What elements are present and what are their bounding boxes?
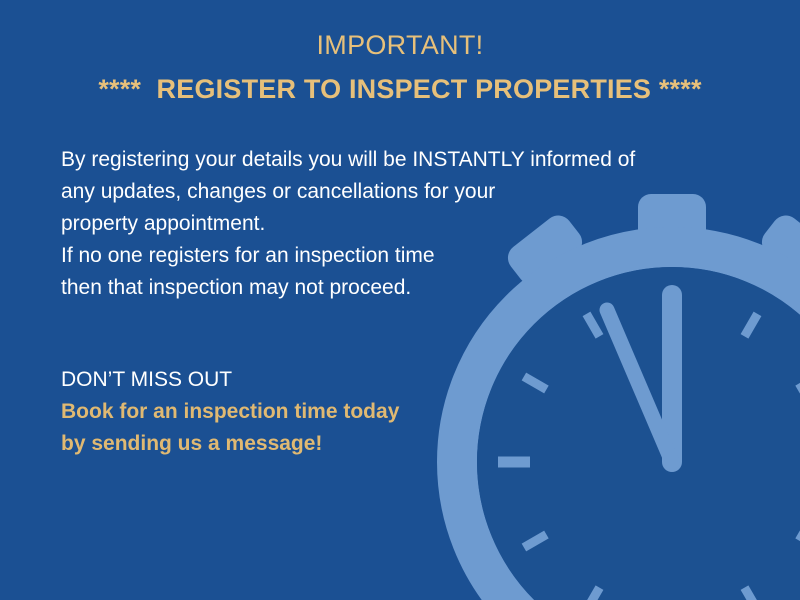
headline-block: IMPORTANT! **** REGISTER TO INSPECT PROP…	[0, 28, 800, 106]
body-paragraph-no-registration: If no one registers for an inspection ti…	[61, 240, 721, 304]
call-to-action-block: DON’T MISS OUT Book for an inspection ti…	[61, 364, 581, 460]
headline-important: IMPORTANT!	[0, 28, 800, 62]
poster-content: IMPORTANT! **** REGISTER TO INSPECT PROP…	[0, 0, 800, 600]
body-block: By registering your details you will be …	[61, 144, 721, 304]
headline-register-to-inspect: **** REGISTER TO INSPECT PROPERTIES ****	[0, 72, 800, 106]
cta-book-inspection: Book for an inspection time today by sen…	[61, 396, 581, 460]
body-paragraph-registering: By registering your details you will be …	[61, 144, 721, 240]
cta-dont-miss-out: DON’T MISS OUT	[61, 364, 581, 396]
poster-canvas: IMPORTANT! **** REGISTER TO INSPECT PROP…	[0, 0, 800, 600]
